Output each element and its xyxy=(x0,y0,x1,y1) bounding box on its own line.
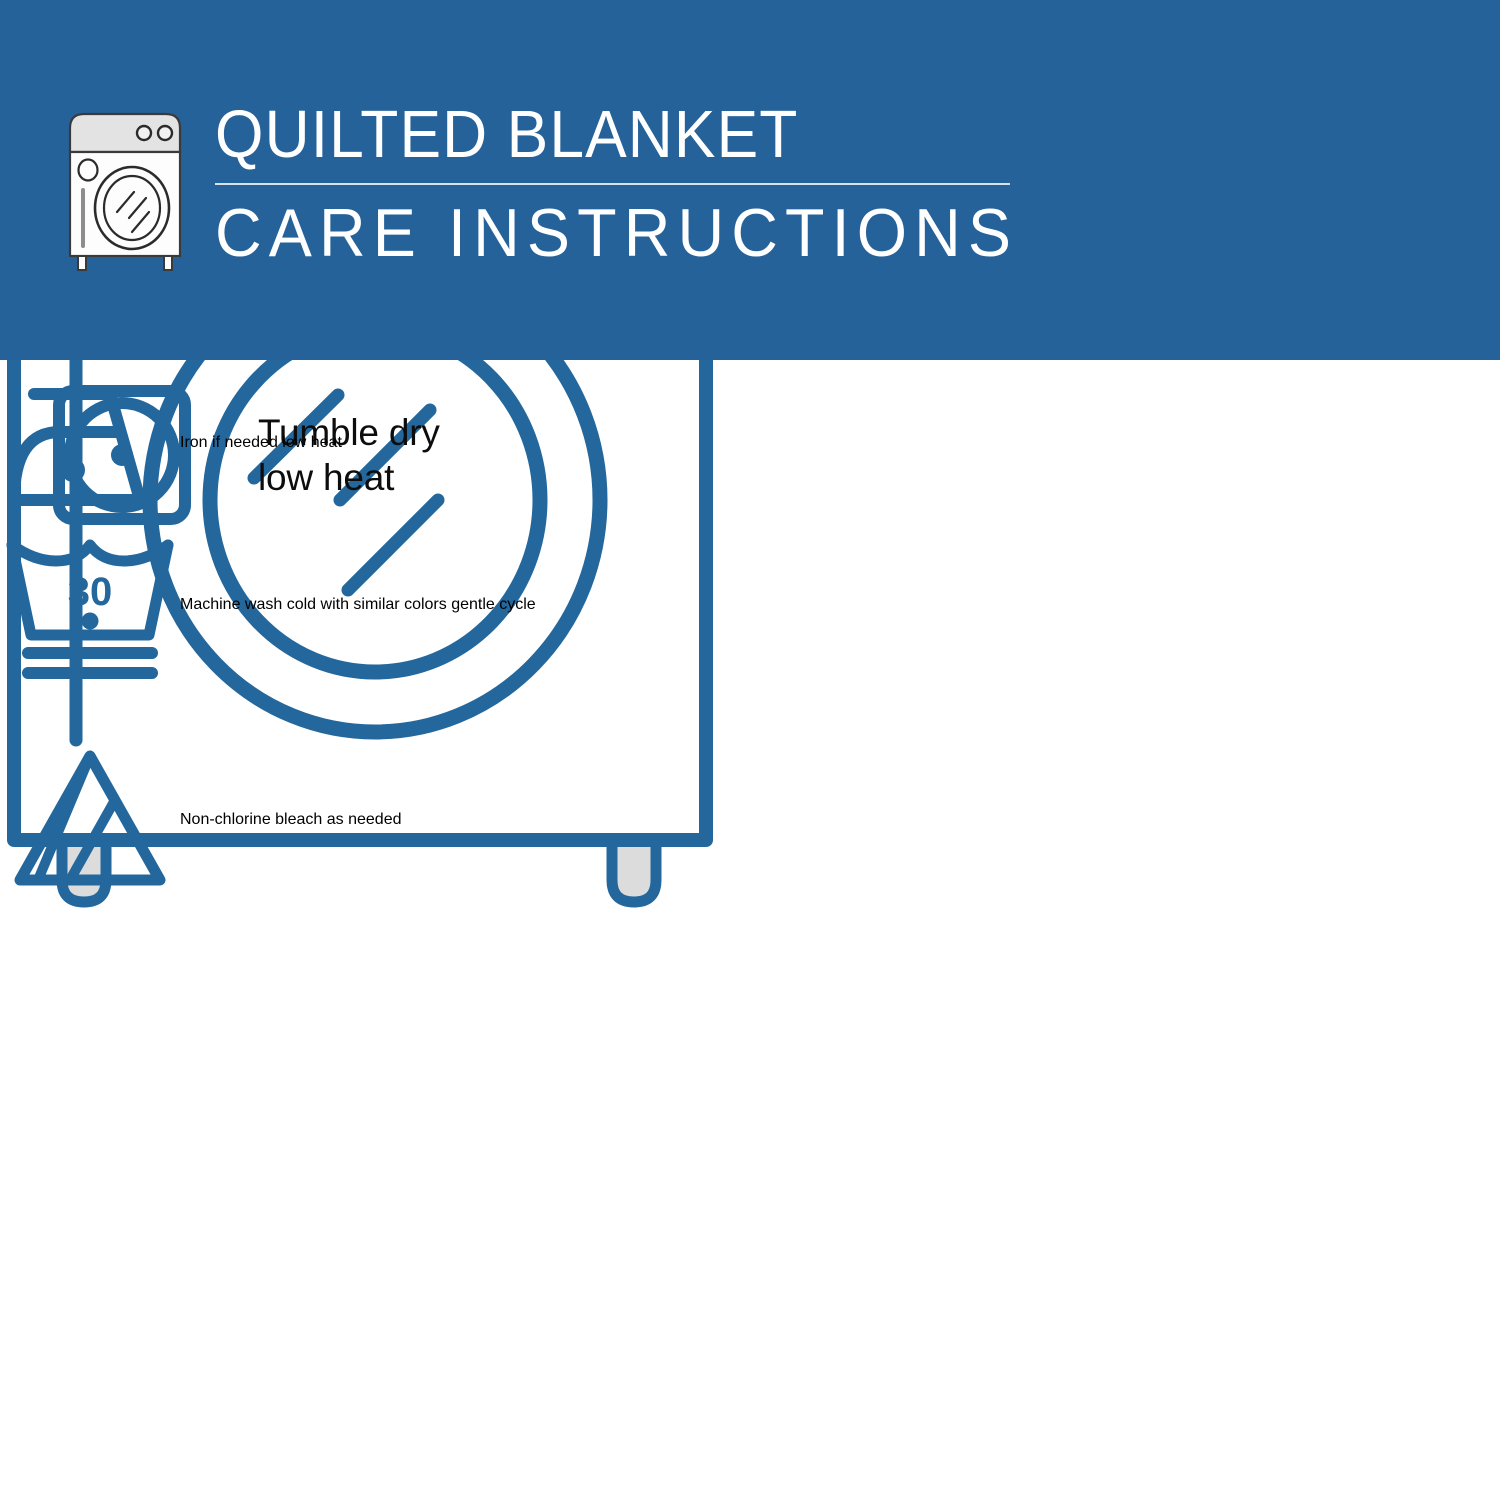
washing-machine-icon xyxy=(62,108,192,276)
iron-low-heat-icon xyxy=(0,360,180,525)
list-item-label: Iron if needed low heat xyxy=(180,434,342,452)
wash-temperature-value: 30 xyxy=(68,570,113,614)
page-header: QUILTED BLANKET CARE INSTRUCTIONS xyxy=(0,0,1500,360)
title-divider xyxy=(215,183,1010,185)
list-item: Iron if needed low heat xyxy=(0,360,730,525)
header-title-block: QUILTED BLANKET CARE INSTRUCTIONS xyxy=(215,96,1025,275)
list-item: Non-chlorine bleach as needed xyxy=(0,725,730,915)
page-subtitle: CARE INSTRUCTIONS xyxy=(215,191,985,275)
list-item-label: Machine wash cold with similar colors ge… xyxy=(180,596,536,614)
page-title: QUILTED BLANKET xyxy=(215,96,968,174)
list-item-label: Non-chlorine bleach as needed xyxy=(180,811,401,829)
non-chlorine-bleach-triangle-icon xyxy=(0,738,180,903)
care-instructions-list: 30 Machine wash cold with similar colors… xyxy=(0,360,730,1500)
